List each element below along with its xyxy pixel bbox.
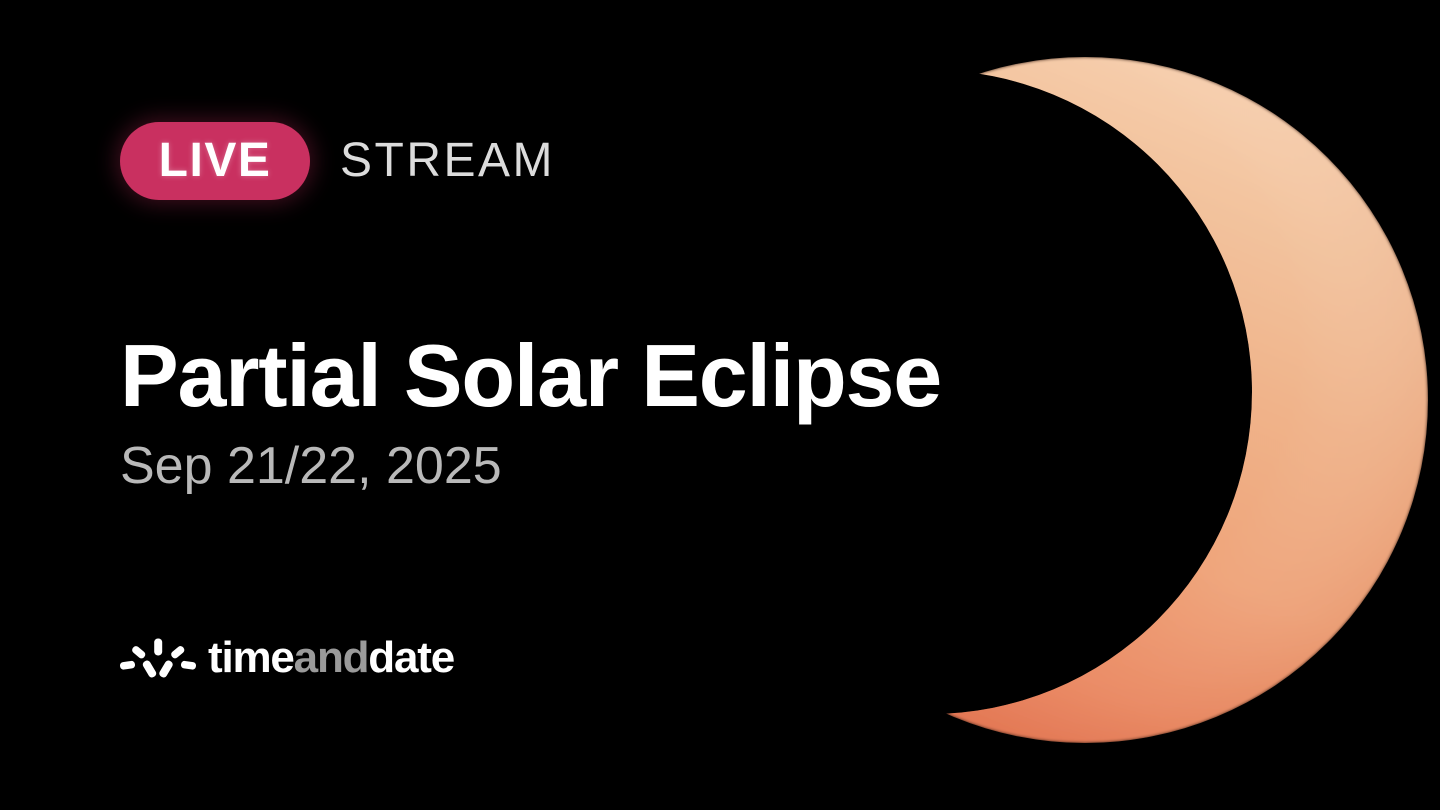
timeanddate-sun-icon	[120, 633, 196, 683]
timeanddate-wordmark: timeanddate	[208, 636, 454, 680]
wordmark-date: date	[368, 633, 454, 682]
page-title: Partial Solar Eclipse	[120, 330, 1020, 422]
headline-block: Partial Solar Eclipse Sep 21/22, 2025	[120, 330, 1020, 495]
stream-label: STREAM	[340, 137, 555, 185]
wordmark-time: time	[208, 633, 294, 682]
live-badge: LIVE	[120, 122, 310, 200]
livestream-title-card: LIVE STREAM Partial Solar Eclipse Sep 21…	[0, 0, 1440, 810]
wordmark-and: and	[294, 633, 369, 682]
live-stream-banner: LIVE STREAM	[120, 122, 555, 200]
live-badge-label: LIVE	[159, 137, 272, 185]
timeanddate-logo: timeanddate	[120, 630, 454, 686]
event-date: Sep 21/22, 2025	[120, 438, 1020, 495]
